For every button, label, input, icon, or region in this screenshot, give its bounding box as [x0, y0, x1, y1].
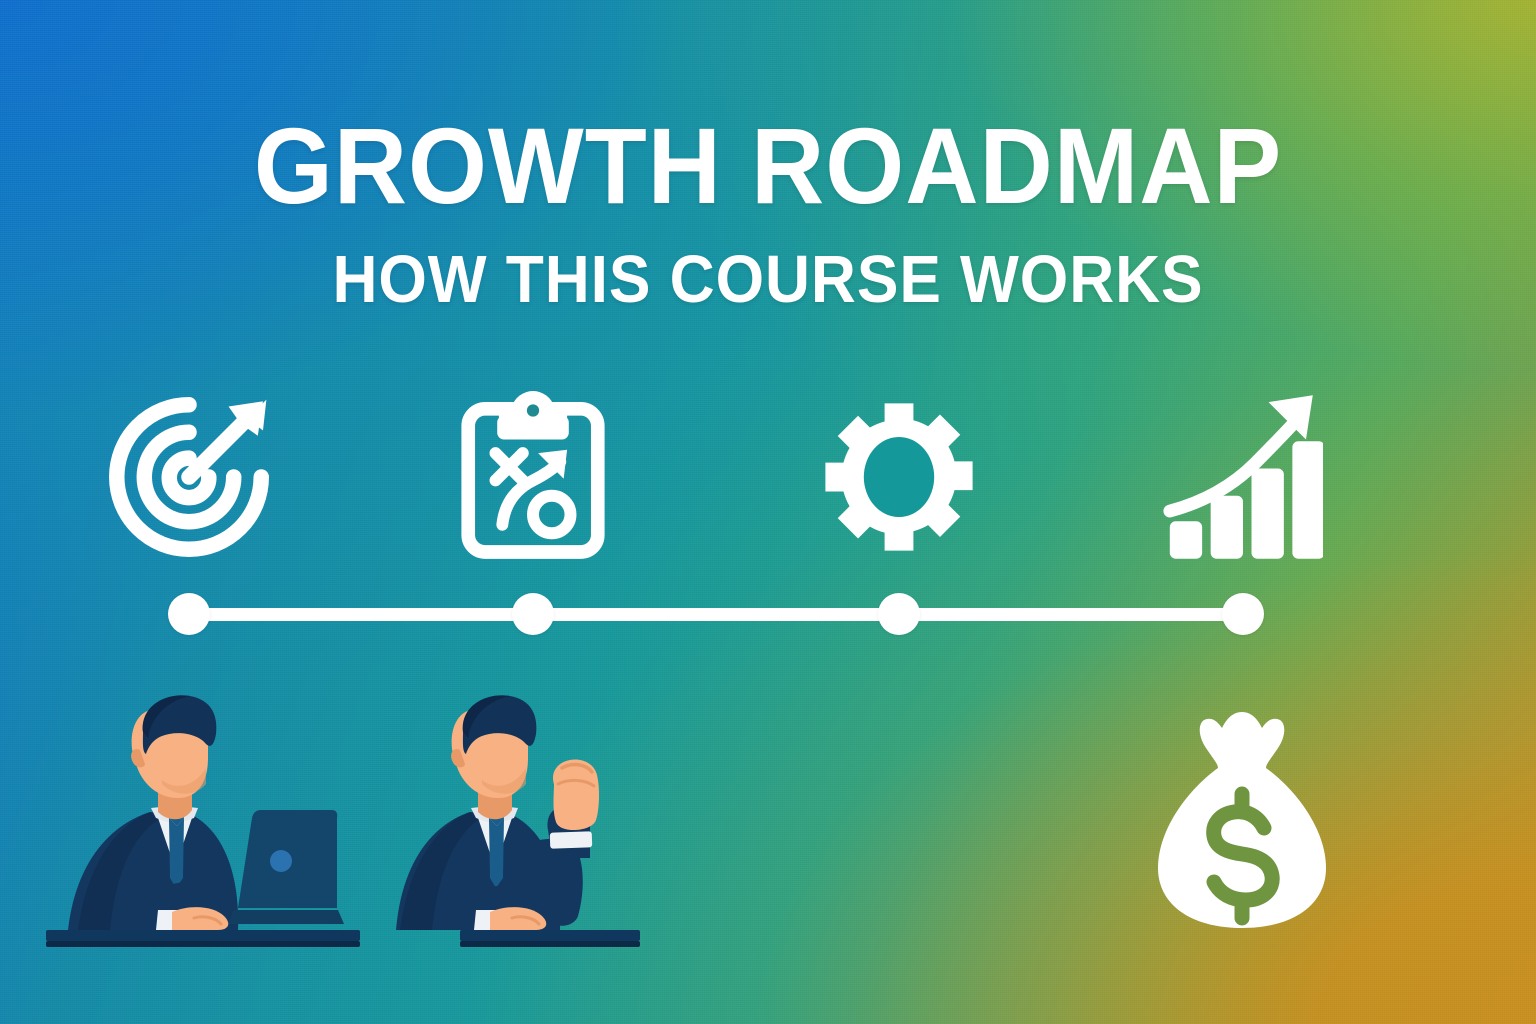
money-bag-icon [1146, 704, 1338, 934]
heading-block: GROWTH ROADMAP HOW THIS COURSE WORKS [0, 112, 1536, 313]
timeline-node-4[interactable] [1222, 593, 1264, 635]
timeline-node-2[interactable] [512, 593, 554, 635]
businessman-with-laptop [38, 672, 368, 952]
page-subtitle: HOW THIS COURSE WORKS [54, 246, 1482, 313]
timeline-node-1[interactable] [168, 593, 210, 635]
clipboard-strategy-icon [458, 391, 608, 563]
gear-icon [816, 397, 982, 557]
target-arrow-icon [103, 391, 275, 563]
milestone-icon-2 [438, 382, 628, 572]
timeline-track [189, 608, 1243, 621]
growth-chart-icon [1163, 391, 1323, 563]
page-title: GROWTH ROADMAP [46, 112, 1490, 220]
businessman-raised-fist [382, 672, 642, 952]
milestone-icon-4 [1148, 382, 1338, 572]
roadmap-timeline [150, 580, 1282, 650]
milestone-icon-1 [94, 382, 284, 572]
growth-roadmap-slide: GROWTH ROADMAP HOW THIS COURSE WORKS [0, 0, 1536, 1024]
milestone-icon-3 [804, 382, 994, 572]
milestone-icon-row [150, 382, 1282, 572]
timeline-node-3[interactable] [878, 593, 920, 635]
